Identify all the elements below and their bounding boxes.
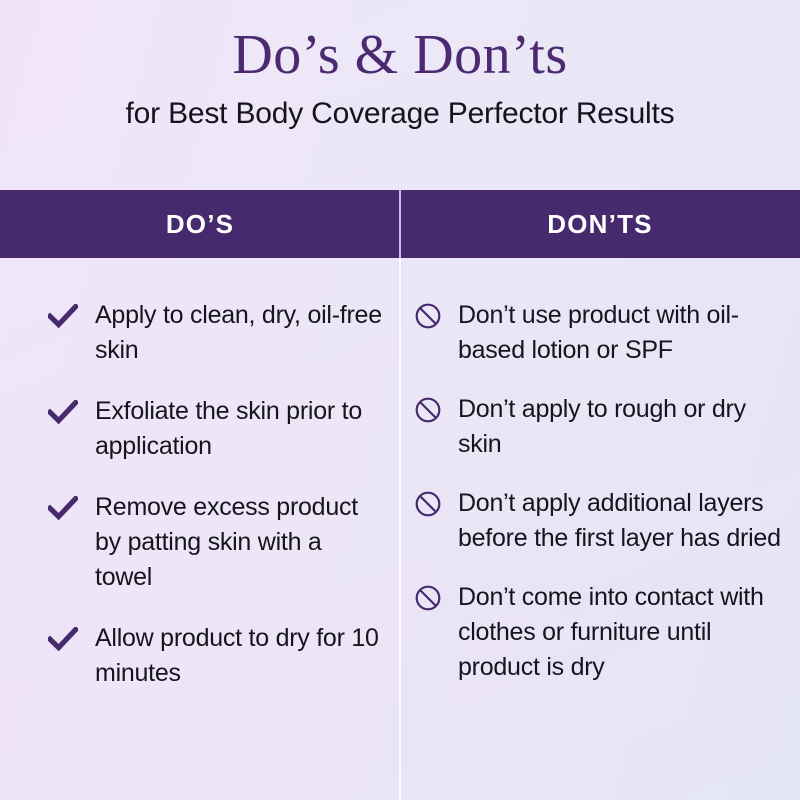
list-item-text: Don’t apply additional layers before the…	[458, 486, 786, 556]
dos-and-donts-infographic: Do’s & Don’ts for Best Body Coverage Per…	[0, 0, 800, 800]
donts-column: Don’t use product with oil-based lotion …	[400, 258, 800, 800]
list-item-text: Apply to clean, dry, oil-free skin	[95, 298, 382, 368]
list-item: Remove excess product by patting skin wi…	[48, 490, 382, 595]
column-header-donts-label: DON’TS	[547, 209, 652, 240]
list-item: Don’t apply to rough or dry skin	[414, 392, 786, 462]
checkmark-icon	[48, 298, 78, 328]
column-header-dos: DO’S	[0, 190, 400, 258]
prohibited-icon	[414, 580, 444, 612]
page-subtitle: for Best Body Coverage Perfector Results	[0, 86, 800, 132]
list-item: Allow product to dry for 10 minutes	[48, 621, 382, 691]
list-item: Don’t use product with oil-based lotion …	[414, 298, 786, 368]
columns-container: Apply to clean, dry, oil-free skin Exfol…	[0, 258, 800, 800]
prohibited-icon	[414, 298, 444, 330]
prohibited-icon	[414, 392, 444, 424]
list-item-text: Allow product to dry for 10 minutes	[95, 621, 382, 691]
list-item-text: Exfoliate the skin prior to application	[95, 394, 382, 464]
list-item: Exfoliate the skin prior to application	[48, 394, 382, 464]
checkmark-icon	[48, 621, 78, 651]
page-title: Do’s & Don’ts	[0, 0, 800, 86]
checkmark-icon	[48, 394, 78, 424]
list-item: Don’t apply additional layers before the…	[414, 486, 786, 556]
list-item-text: Don’t apply to rough or dry skin	[458, 392, 786, 462]
column-header-dos-label: DO’S	[166, 209, 234, 240]
prohibited-icon	[414, 486, 444, 518]
column-header-donts: DON’TS	[400, 190, 800, 258]
column-header-band: DO’S DON’TS	[0, 190, 800, 258]
list-item: Apply to clean, dry, oil-free skin	[48, 298, 382, 368]
checkmark-icon	[48, 490, 78, 520]
list-item-text: Don’t come into contact with clothes or …	[458, 580, 786, 685]
list-item-text: Remove excess product by patting skin wi…	[95, 490, 382, 595]
band-divider	[399, 190, 401, 258]
dos-column: Apply to clean, dry, oil-free skin Exfol…	[0, 258, 400, 800]
list-item: Don’t come into contact with clothes or …	[414, 580, 786, 685]
list-item-text: Don’t use product with oil-based lotion …	[458, 298, 786, 368]
header-block: Do’s & Don’ts for Best Body Coverage Per…	[0, 0, 800, 190]
